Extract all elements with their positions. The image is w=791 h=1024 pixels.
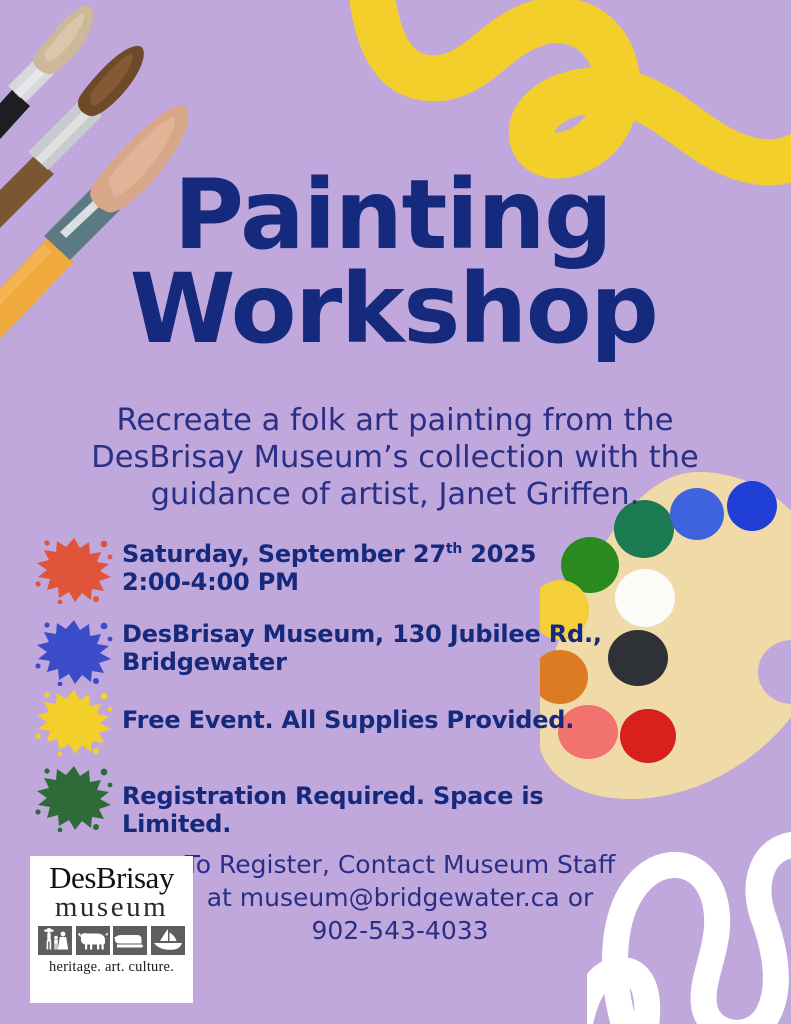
poster-title: Painting Workshop bbox=[0, 168, 791, 356]
paint-splat-yellow bbox=[34, 686, 114, 756]
desbrisay-museum-logo: DesBrisay museum bbox=[30, 856, 193, 1003]
brush-black-handle bbox=[0, 6, 93, 192]
subtitle-line-3: guidance of artist, Janet Griffen. bbox=[90, 476, 700, 513]
detail-row-registration: Registration Required. Space is Limited. bbox=[34, 760, 634, 832]
blob-blue-dark bbox=[727, 481, 777, 531]
logo-name-desbrisay: DesBrisay bbox=[37, 862, 186, 894]
detail-text-datetime: Saturday, September 27th 2025 2:00-4:00 … bbox=[122, 528, 536, 596]
detail-free-line: Free Event. All Supplies Provided. bbox=[122, 706, 574, 734]
sleigh-icon bbox=[113, 926, 147, 955]
logo-tagline: heritage. art. culture. bbox=[37, 959, 186, 976]
sailboat-icon bbox=[151, 926, 185, 955]
detail-city-line: Bridgewater bbox=[122, 648, 602, 676]
title-line-2: Workshop bbox=[0, 262, 791, 356]
logo-pictogram-tiles bbox=[37, 926, 186, 955]
paint-splat-green bbox=[34, 762, 114, 832]
subtitle-line-2: DesBrisay Museum’s collection with the bbox=[90, 439, 700, 476]
ox-icon bbox=[76, 926, 110, 955]
poster-canvas: Painting Workshop Recreate a folk art pa… bbox=[0, 0, 791, 1024]
title-line-1: Painting bbox=[0, 168, 791, 262]
palette-thumb-hole bbox=[758, 640, 791, 704]
detail-address-line: DesBrisay Museum, 130 Jubilee Rd., bbox=[122, 620, 602, 648]
poster-subtitle: Recreate a folk art painting from the De… bbox=[90, 402, 700, 514]
subtitle-line-1: Recreate a folk art painting from the bbox=[90, 402, 700, 439]
contact-line-3: 902-543-4033 bbox=[176, 914, 624, 947]
logo-name-museum: museum bbox=[37, 893, 186, 922]
settler-family-icon bbox=[38, 926, 72, 955]
paint-splat-orange bbox=[34, 534, 114, 604]
contact-block: To Register, Contact Museum Staff at mus… bbox=[176, 848, 624, 947]
detail-row-free-event: Free Event. All Supplies Provided. bbox=[34, 686, 634, 760]
detail-row-datetime: Saturday, September 27th 2025 2:00-4:00 … bbox=[34, 528, 634, 608]
event-details-list: Saturday, September 27th 2025 2:00-4:00 … bbox=[34, 528, 634, 832]
detail-date-line: Saturday, September 27th 2025 bbox=[122, 540, 536, 568]
detail-text-registration: Registration Required. Space is Limited. bbox=[122, 760, 634, 838]
contact-line-1: To Register, Contact Museum Staff bbox=[176, 848, 624, 881]
paint-splat-blue bbox=[34, 616, 114, 686]
detail-row-location: DesBrisay Museum, 130 Jubilee Rd., Bridg… bbox=[34, 608, 634, 686]
detail-registration-line: Registration Required. Space is Limited. bbox=[122, 782, 634, 838]
detail-text-location: DesBrisay Museum, 130 Jubilee Rd., Bridg… bbox=[122, 608, 602, 676]
contact-line-2: at museum@bridgewater.ca or bbox=[176, 881, 624, 914]
detail-time-line: 2:00-4:00 PM bbox=[122, 568, 536, 596]
detail-text-free-event: Free Event. All Supplies Provided. bbox=[122, 686, 574, 734]
